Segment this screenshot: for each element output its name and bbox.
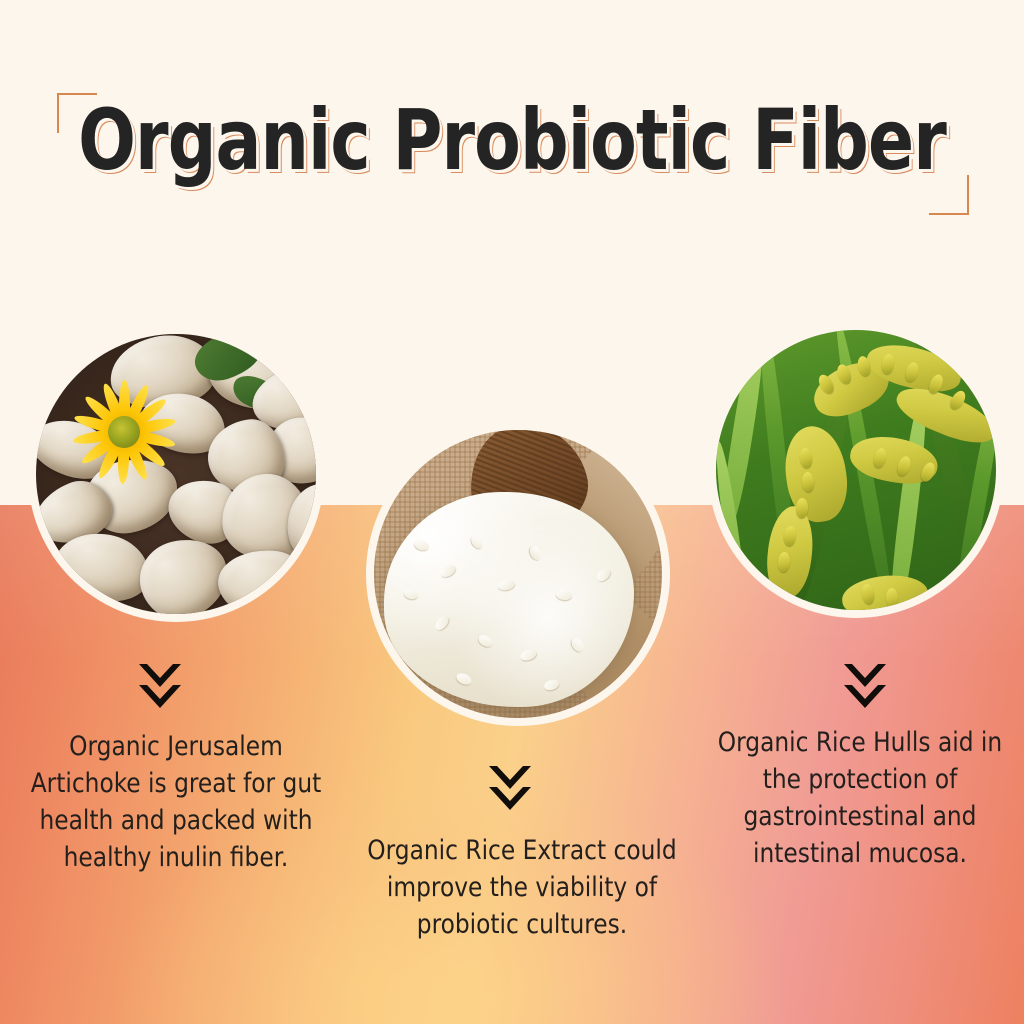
ingredient-caption-jerusalem-artichoke: Organic Jerusalem Artichoke is great for… bbox=[20, 728, 331, 876]
rice-paddy-photo bbox=[716, 330, 996, 610]
rice-pile bbox=[384, 492, 634, 707]
title-area: Organic Probiotic Fiber bbox=[0, 88, 1024, 228]
rice-photo bbox=[374, 430, 662, 718]
double-chevron-down-icon-left bbox=[139, 664, 181, 710]
sunflower-icon bbox=[70, 378, 178, 486]
ingredient-image-rice-extract bbox=[366, 422, 670, 726]
double-chevron-down-icon-right bbox=[844, 664, 886, 710]
rice-hull bbox=[886, 588, 899, 608]
artichoke-photo bbox=[36, 334, 316, 614]
ingredient-caption-rice-extract: Organic Rice Extract could improve the v… bbox=[347, 832, 696, 943]
ingredient-image-jerusalem-artichoke bbox=[28, 326, 324, 622]
ingredient-image-rice-hulls bbox=[708, 322, 1004, 618]
page-title: Organic Probiotic Fiber bbox=[51, 88, 973, 192]
double-chevron-down-icon-middle bbox=[489, 766, 531, 812]
infographic-canvas: Organic Probiotic Fiber bbox=[0, 0, 1024, 1024]
ingredient-caption-rice-hulls: Organic Rice Hulls aid in the protection… bbox=[712, 724, 1008, 872]
